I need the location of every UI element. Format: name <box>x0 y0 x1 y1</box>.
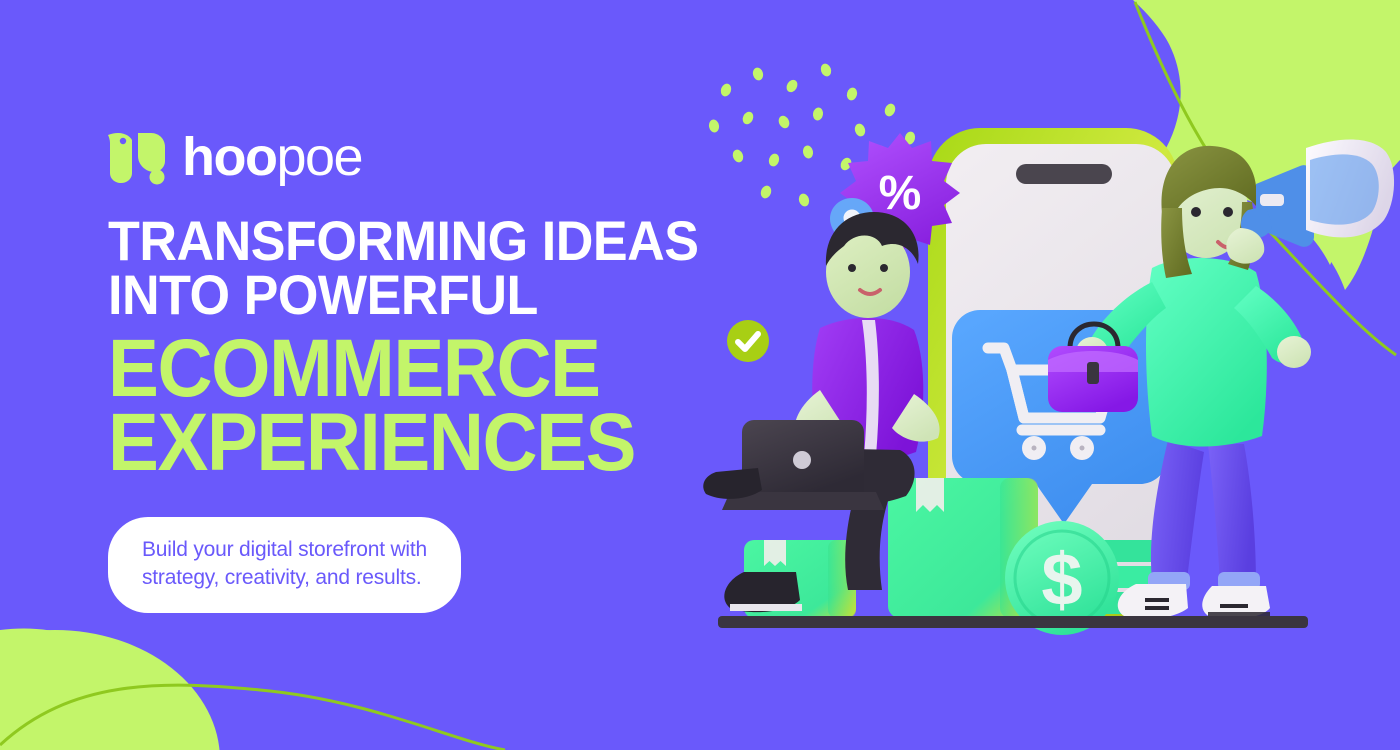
headline-line-1: TRANSFORMING IDEAS <box>108 214 759 268</box>
brand-name-light: poe <box>276 130 362 184</box>
deco-blob-bottom-left <box>0 629 165 750</box>
hoopoe-bird-logo-icon <box>108 129 168 185</box>
subtitle-pill: Build your digital storefront with strat… <box>108 517 461 613</box>
content-column: hoopoe TRANSFORMING IDEAS INTO POWERFUL … <box>108 126 808 613</box>
deco-curve-bottom-left <box>0 685 505 750</box>
ground-bar <box>718 616 1308 628</box>
headline-line-4: EXPERIENCES <box>108 404 759 483</box>
brand-name-bold: hoo <box>182 130 276 184</box>
headline-line-2: INTO POWERFUL <box>108 268 759 322</box>
svg-text:%: % <box>879 167 922 220</box>
deco-blob-bottom-left-b <box>0 630 220 750</box>
brand-logo[interactable]: hoopoe <box>108 126 808 188</box>
megaphone-icon <box>1241 139 1394 246</box>
marketing-banner: % <box>0 0 1400 750</box>
subtitle-line-2: strategy, creativity, and results. <box>142 564 427 592</box>
headline-block: TRANSFORMING IDEAS INTO POWERFUL ECOMMER… <box>108 214 808 483</box>
subtitle-line-1: Build your digital storefront with <box>142 536 427 564</box>
svg-text:$: $ <box>1041 538 1082 621</box>
brand-wordmark: hoopoe <box>182 130 362 184</box>
